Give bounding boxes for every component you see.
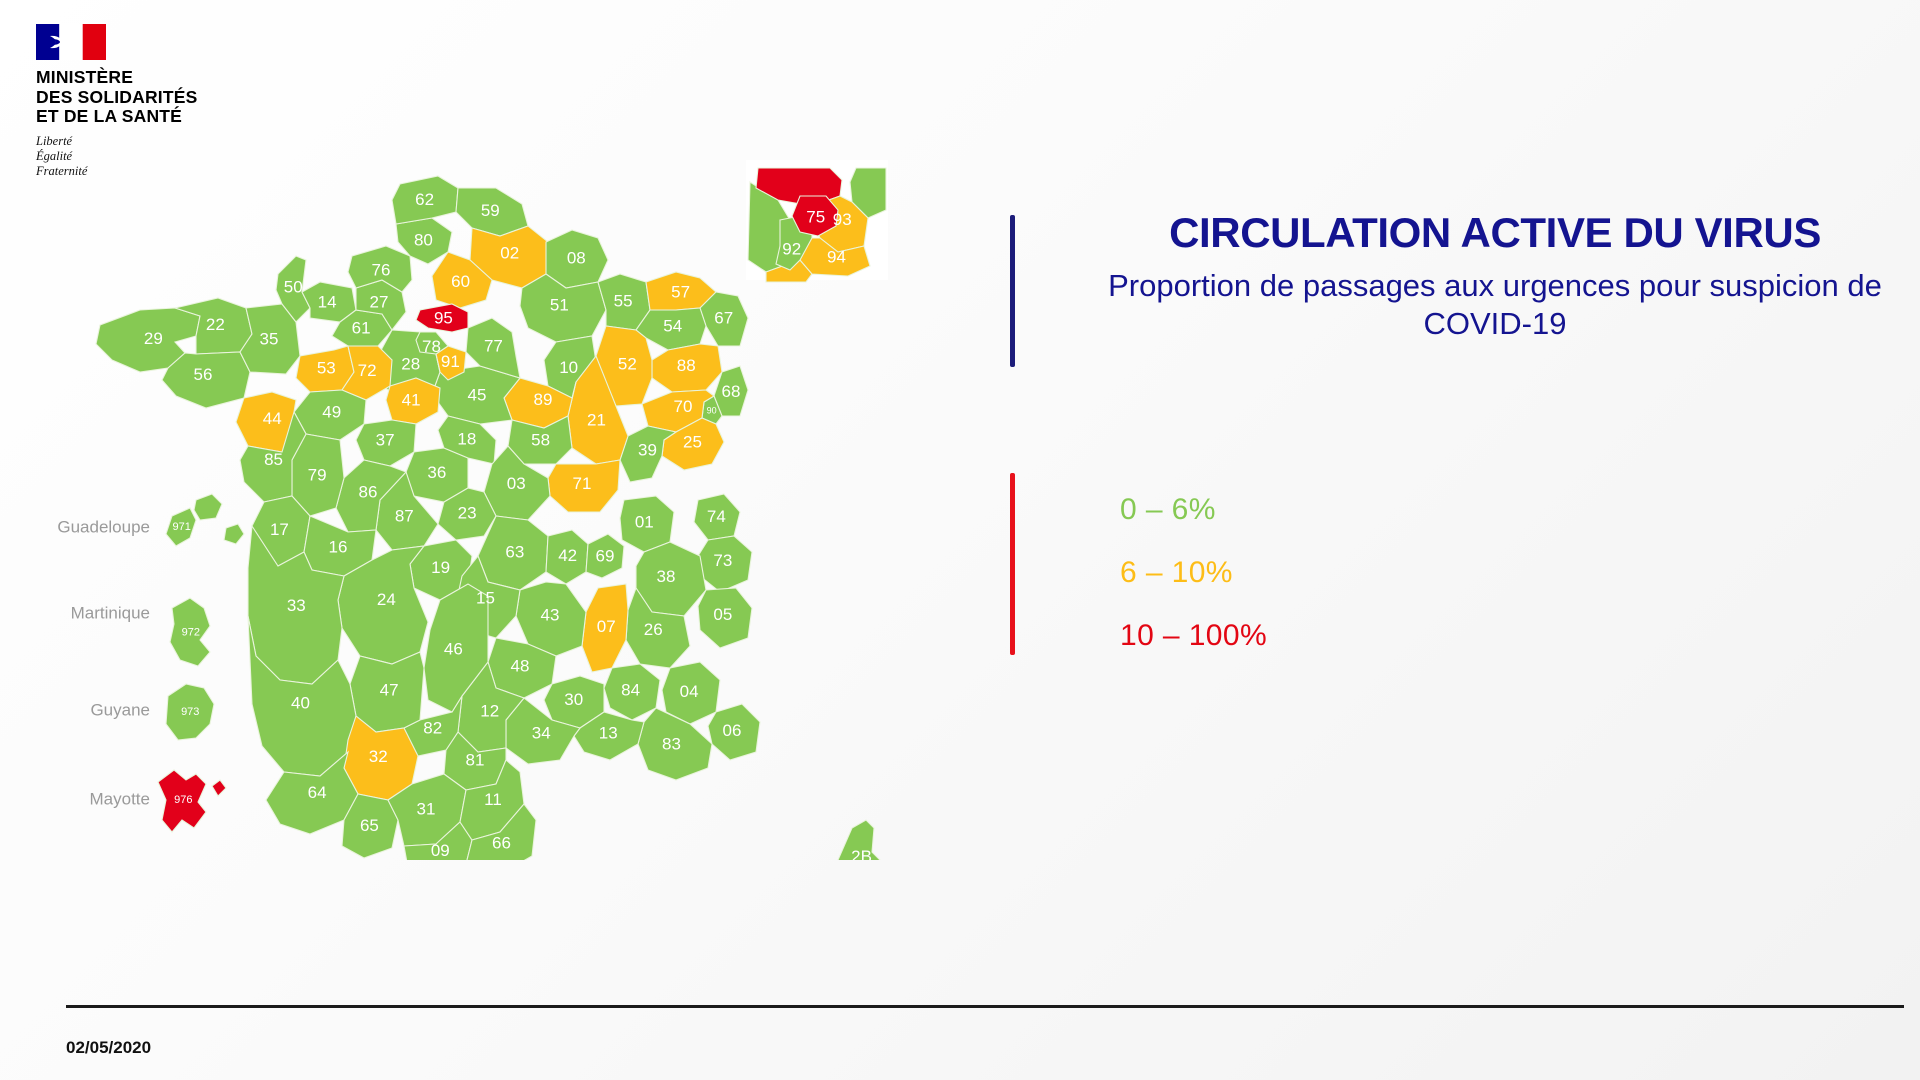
department-shape-41[interactable] <box>386 378 440 424</box>
footer-divider <box>66 1005 1904 1008</box>
title-accent-rule <box>1010 215 1015 367</box>
department-shape-971[interactable] <box>166 508 196 546</box>
overseas-label-guadeloupe: Guadeloupe <box>57 517 150 536</box>
legend-item-2: 10 – 100% <box>1120 619 1267 653</box>
department-shape-62[interactable] <box>392 176 458 224</box>
department-shape-69[interactable] <box>586 534 624 578</box>
department-shape-08[interactable] <box>546 230 608 288</box>
page-subtitle: Proportion de passages aux urgences pour… <box>1080 267 1910 344</box>
department-shape-976-islet[interactable] <box>212 780 226 796</box>
overseas-label-martinique: Martinique <box>71 603 150 622</box>
department-shape-74[interactable] <box>694 494 740 540</box>
overseas-label-guyane: Guyane <box>90 700 150 719</box>
legend: 0 – 6%6 – 10%10 – 100% <box>1120 493 1267 682</box>
department-shape-07[interactable] <box>582 584 628 672</box>
page-title: CIRCULATION ACTIVE DU VIRUS <box>1080 209 1910 257</box>
french-flag-marianne-logo <box>36 24 106 60</box>
department-shape-971-islet[interactable] <box>194 494 222 520</box>
france-map-svg: 2922563550146127768062590260085155576754… <box>0 60 1000 860</box>
department-shape-95[interactable] <box>416 304 468 332</box>
department-shape-67[interactable] <box>700 292 748 346</box>
department-shape-88[interactable] <box>652 344 722 392</box>
date-stamp: 02/05/2020 <box>66 1038 151 1058</box>
department-shape-06[interactable] <box>708 704 760 760</box>
department-shape-71[interactable] <box>548 460 620 512</box>
department-shape-42[interactable] <box>546 530 588 584</box>
legend-accent-rule <box>1010 473 1015 655</box>
department-shape-2B[interactable] <box>838 820 880 860</box>
legend-item-1: 6 – 10% <box>1120 556 1267 590</box>
department-shape-972[interactable] <box>170 598 210 666</box>
overseas-label-mayotte: Mayotte <box>90 789 150 808</box>
department-shape-37[interactable] <box>356 420 416 466</box>
department-shape-971-islet[interactable] <box>224 524 244 544</box>
legend-item-0: 0 – 6% <box>1120 493 1267 527</box>
france-covid-map: 2922563550146127768062590260085155576754… <box>0 60 1000 860</box>
department-shape-84[interactable] <box>604 664 660 720</box>
department-shape-976[interactable] <box>158 770 206 832</box>
department-shape-973[interactable] <box>166 684 214 740</box>
department-shape-59[interactable] <box>456 188 528 236</box>
department-shape-05[interactable] <box>698 588 752 648</box>
department-shape-73[interactable] <box>698 536 752 592</box>
